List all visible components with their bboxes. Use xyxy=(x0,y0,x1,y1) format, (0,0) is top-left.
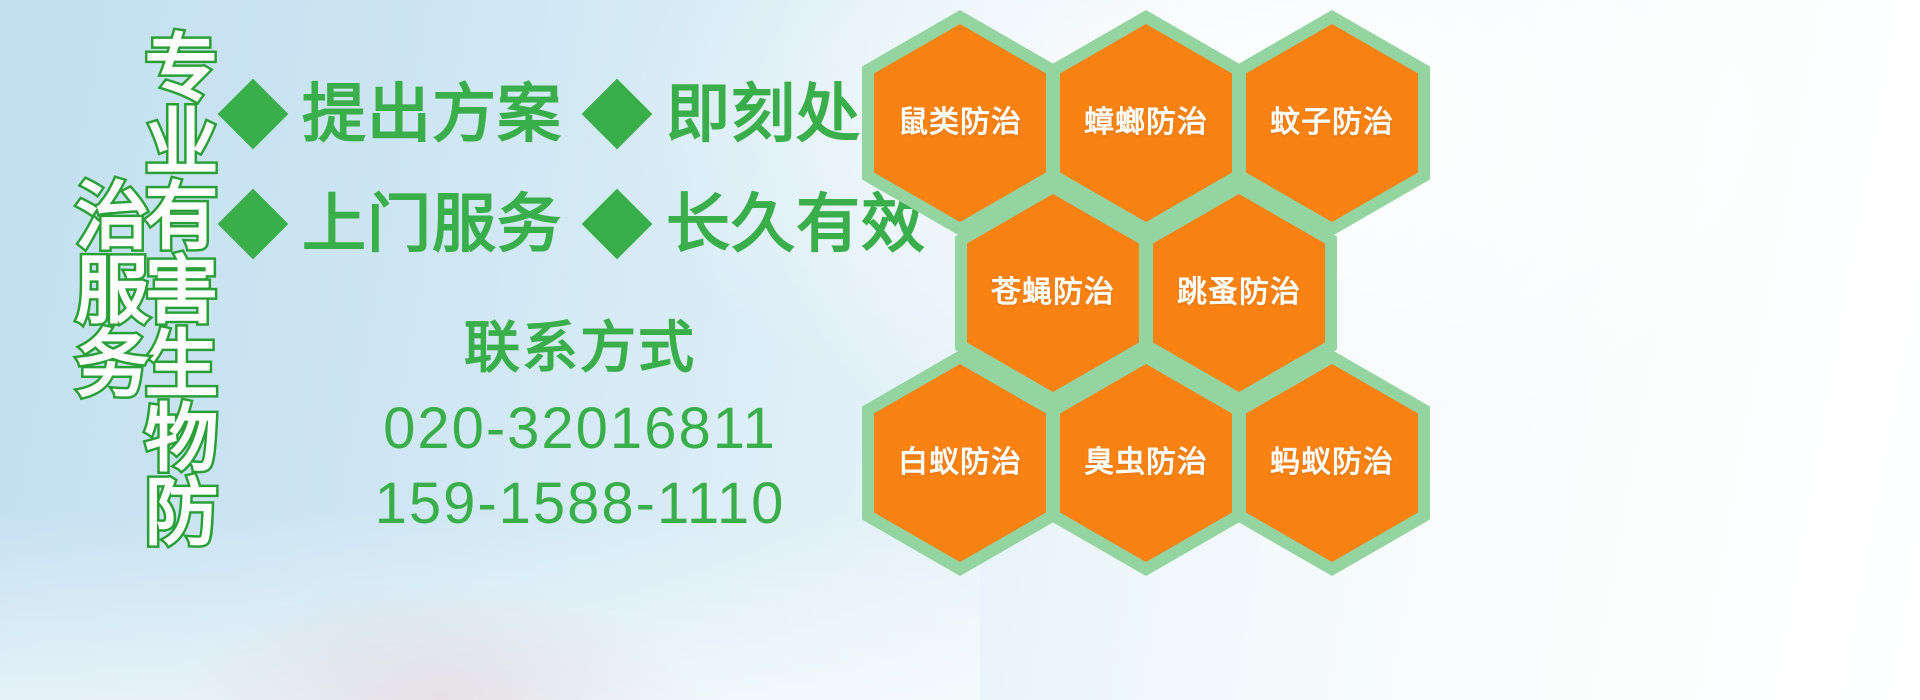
hex-label: 白蚁防治 xyxy=(862,448,1058,478)
hex-cell-bedbug-control[interactable]: 臭虫防治 xyxy=(1048,350,1244,576)
hex-label: 苍蝇防治 xyxy=(955,278,1151,308)
hex-label: 臭虫防治 xyxy=(1048,448,1244,478)
service-honeycomb: 鼠类防治 蟑螂防治 蚊子防治 苍蝇防治 跳蚤防治 白蚁防治 xyxy=(0,0,1920,700)
pest-control-banner: 专业有害生物防治服务 提出方案 即刻处理 上门服务 长久有效 联系方式 020-… xyxy=(0,0,1920,700)
hex-cell-termite-control[interactable]: 白蚁防治 xyxy=(862,350,1058,576)
hex-label: 蚂蚁防治 xyxy=(1234,448,1430,478)
hex-label: 蟑螂防治 xyxy=(1048,108,1244,138)
hex-cell-ant-control[interactable]: 蚂蚁防治 xyxy=(1234,350,1430,576)
hex-label: 鼠类防治 xyxy=(862,108,1058,138)
hex-label: 蚊子防治 xyxy=(1234,108,1430,138)
hex-label: 跳蚤防治 xyxy=(1141,278,1337,308)
